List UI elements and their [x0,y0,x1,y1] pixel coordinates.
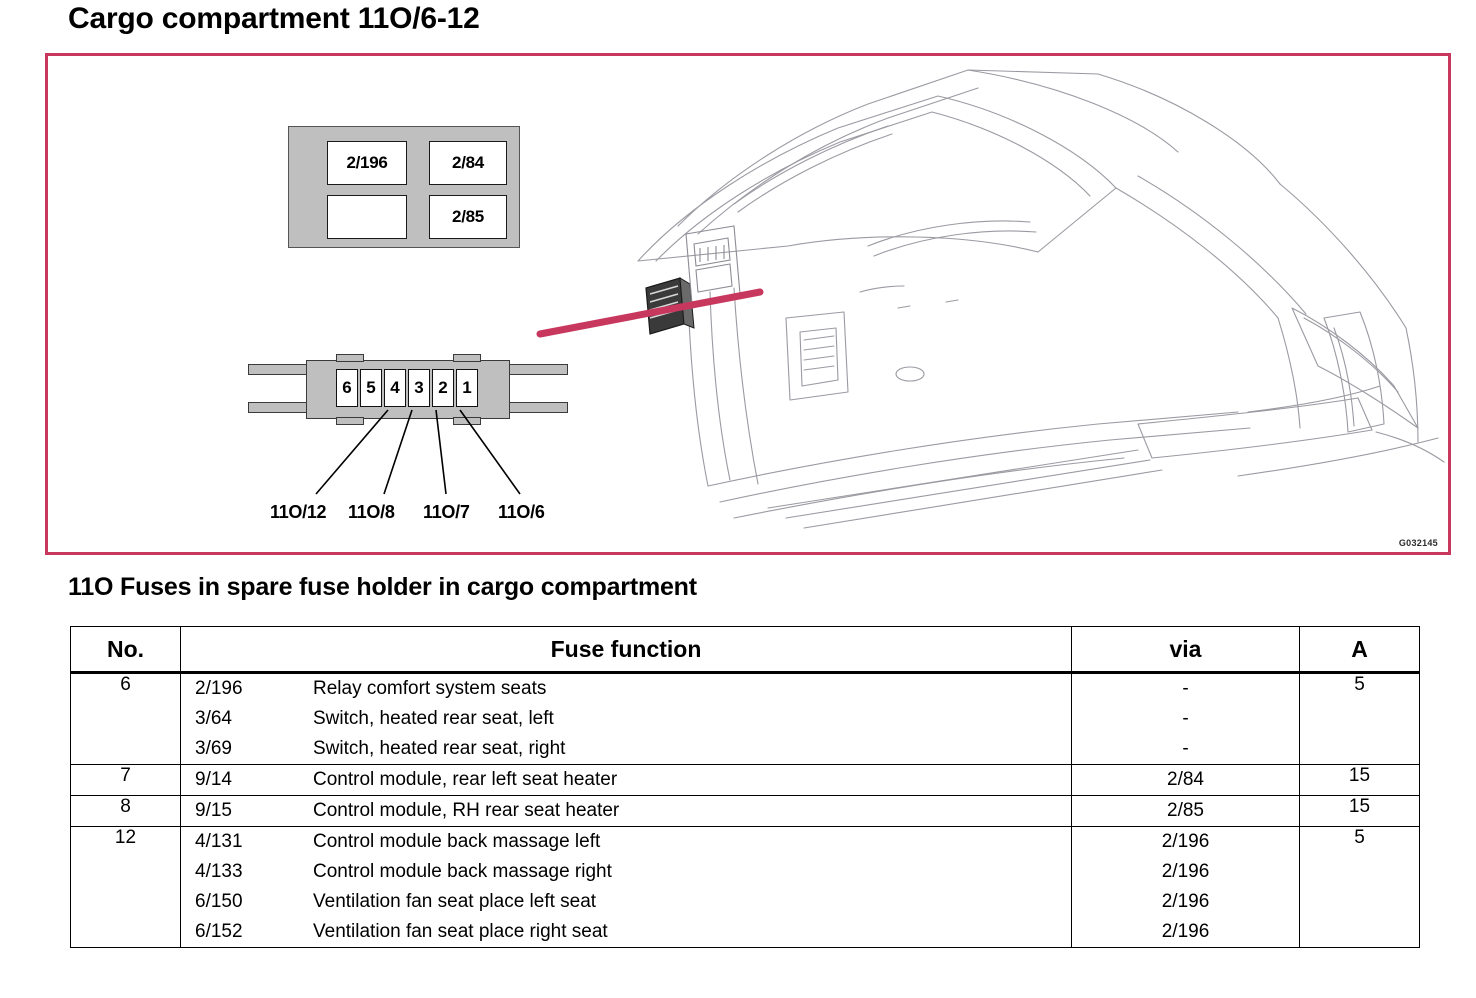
fuse-holder-marker [646,278,694,334]
via-value: 2/196 [1072,827,1299,857]
table-row: 89/15Control module, RH rear seat heater… [71,796,1420,827]
cell-via: 2/85 [1072,796,1300,827]
th-via: via [1072,627,1300,673]
table-row: 124/131Control module back massage left4… [71,827,1420,948]
callout-label: 11O/12 [270,502,326,523]
fuse-function-line: 9/14Control module, rear left seat heate… [181,765,1071,795]
cell-amp: 15 [1300,765,1420,796]
fuse-table-body: 62/196Relay comfort system seats3/64Swit… [71,673,1420,948]
fuse-function-desc: Switch, heated rear seat, right [313,734,1071,764]
cell-no: 8 [71,796,181,827]
cell-fuse-function: 9/14Control module, rear left seat heate… [181,765,1072,796]
relay-slot-empty [327,195,407,239]
via-value: - [1072,704,1299,734]
fuse-function-desc: Control module, RH rear seat heater [313,796,1071,826]
relay-slot: 2/196 [327,141,407,185]
fuse-function-desc: Relay comfort system seats [313,674,1071,704]
fuse-function-desc: Switch, heated rear seat, left [313,704,1071,734]
table-row: 62/196Relay comfort system seats3/64Swit… [71,673,1420,765]
fuse-function-desc: Control module back massage left [313,827,1071,857]
via-value: 2/196 [1072,887,1299,917]
cell-amp: 5 [1300,827,1420,948]
relay-slot: 2/85 [429,195,507,239]
fuse-function-code: 2/196 [181,674,313,704]
fuse-function-code: 4/131 [181,827,313,857]
cell-via: --- [1072,673,1300,765]
th-amp: A [1300,627,1420,673]
fuse-function-line: 6/152Ventilation fan seat place right se… [181,917,1071,947]
via-value: 2/196 [1072,857,1299,887]
fuse-function-code: 6/152 [181,917,313,947]
fuse-table: No. Fuse function via A 62/196Relay comf… [70,626,1420,948]
fuse-function-line: 4/133Control module back massage right [181,857,1071,887]
table-row: 79/14Control module, rear left seat heat… [71,765,1420,796]
cell-amp: 5 [1300,673,1420,765]
relay-box-diagram: 2/196 2/84 2/85 [288,126,520,248]
fuse-function-code: 9/14 [181,765,313,795]
cell-fuse-function: 4/131Control module back massage left4/1… [181,827,1072,948]
cell-no: 6 [71,673,181,765]
cell-no: 7 [71,765,181,796]
fuse-function-line: 6/150Ventilation fan seat place left sea… [181,887,1071,917]
fuse-function-desc: Control module back massage right [313,857,1071,887]
fuse-table-container: No. Fuse function via A 62/196Relay comf… [70,626,1420,948]
fuse-function-code: 3/64 [181,704,313,734]
fuse-function-line: 3/69Switch, heated rear seat, right [181,734,1071,764]
cell-no: 12 [71,827,181,948]
via-value: 2/85 [1072,796,1299,826]
fuse-function-line: 4/131Control module back massage left [181,827,1071,857]
relay-slot: 2/84 [429,141,507,185]
th-no: No. [71,627,181,673]
cell-amp: 15 [1300,796,1420,827]
cell-fuse-function: 2/196Relay comfort system seats3/64Switc… [181,673,1072,765]
table-header-row: No. Fuse function via A [71,627,1420,673]
via-value: - [1072,734,1299,764]
fuse-function-code: 4/133 [181,857,313,887]
fuse-function-code: 6/150 [181,887,313,917]
fuse-function-desc: Ventilation fan seat place left seat [313,887,1071,917]
fuse-strip-diagram: 6 5 4 3 2 1 11O/12 11O/8 11O/7 11O/6 [248,354,568,529]
section-heading: 11O Fuses in spare fuse holder in cargo … [68,573,697,602]
th-fuse-function: Fuse function [181,627,1072,673]
car-cargo-illustration [538,56,1448,552]
fuse-function-line: 9/15Control module, RH rear seat heater [181,796,1071,826]
cell-via: 2/84 [1072,765,1300,796]
page-title: Cargo compartment 11O/6-12 [68,2,480,36]
via-value: 2/84 [1072,765,1299,795]
fuse-function-line: 3/64Switch, heated rear seat, left [181,704,1071,734]
fuse-function-desc: Ventilation fan seat place right seat [313,917,1071,947]
callout-label: 11O/8 [348,502,395,523]
fuse-function-desc: Control module, rear left seat heater [313,765,1071,795]
fuse-function-code: 3/69 [181,734,313,764]
figure-code-watermark: G032145 [1399,538,1438,548]
via-value: 2/196 [1072,917,1299,947]
cell-fuse-function: 9/15Control module, RH rear seat heater [181,796,1072,827]
callout-label: 11O/6 [498,502,545,523]
figure-panel: 2/196 2/84 2/85 6 5 4 3 2 1 [45,53,1451,555]
cell-via: 2/1962/1962/1962/196 [1072,827,1300,948]
fuse-function-line: 2/196Relay comfort system seats [181,674,1071,704]
callout-label: 11O/7 [423,502,470,523]
fuse-function-code: 9/15 [181,796,313,826]
fuse-table-head: No. Fuse function via A [71,627,1420,673]
via-value: - [1072,674,1299,704]
car-illustration-svg [538,56,1448,552]
